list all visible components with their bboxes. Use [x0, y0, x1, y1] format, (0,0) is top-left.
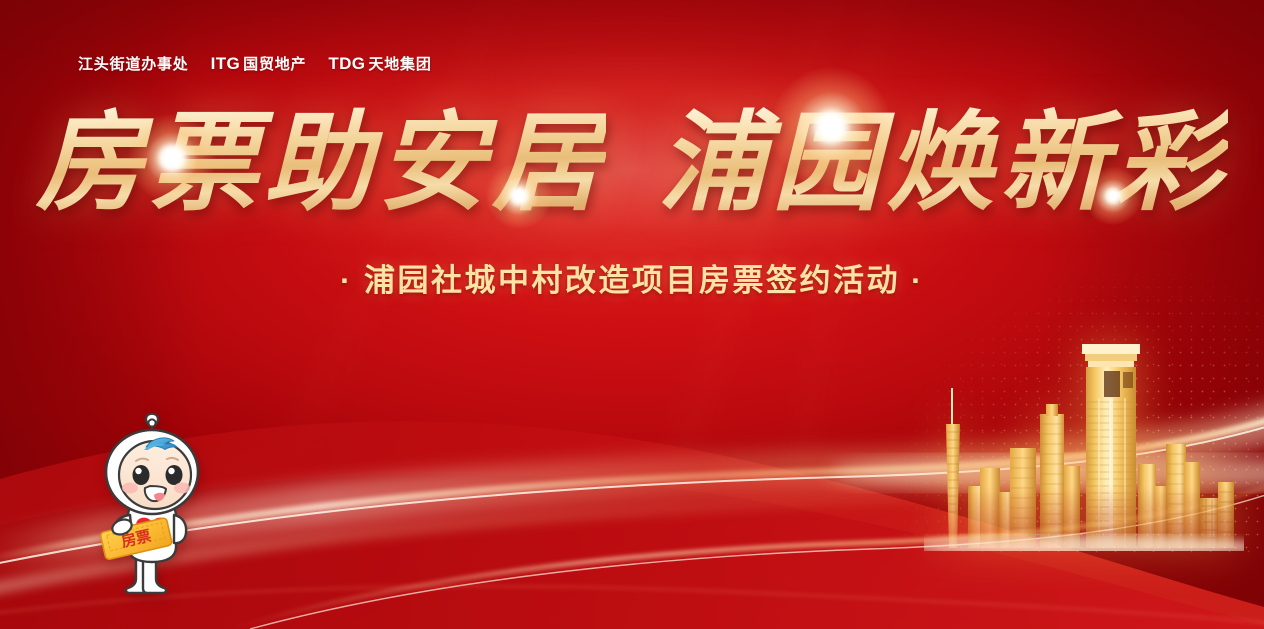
org-label-0: 江头街道办事处 [78, 56, 189, 73]
org-jiangtou-street-office: 江头街道办事处 [78, 57, 189, 72]
itg-baby-mascot: ITG [88, 403, 216, 599]
org-tdg-tiandi: TDG天地集团 [328, 55, 431, 72]
org-label-1: 国贸地产 [243, 56, 306, 73]
organizer-list: 江头街道办事处 ITG国贸地产 TDG天地集团 [78, 55, 432, 72]
org-latin-1: ITG [211, 54, 241, 73]
org-latin-2: TDG [328, 54, 365, 73]
event-subtitle: · 浦园社城中村改造项目房票签约活动 · [0, 255, 1264, 300]
poster-canvas: 江头街道办事处 ITG国贸地产 TDG天地集团 房票助安居浦园焕新彩 · 浦园社… [0, 0, 1264, 629]
org-itg-guomao: ITG国贸地产 [211, 55, 307, 72]
org-label-2: 天地集团 [368, 56, 431, 73]
